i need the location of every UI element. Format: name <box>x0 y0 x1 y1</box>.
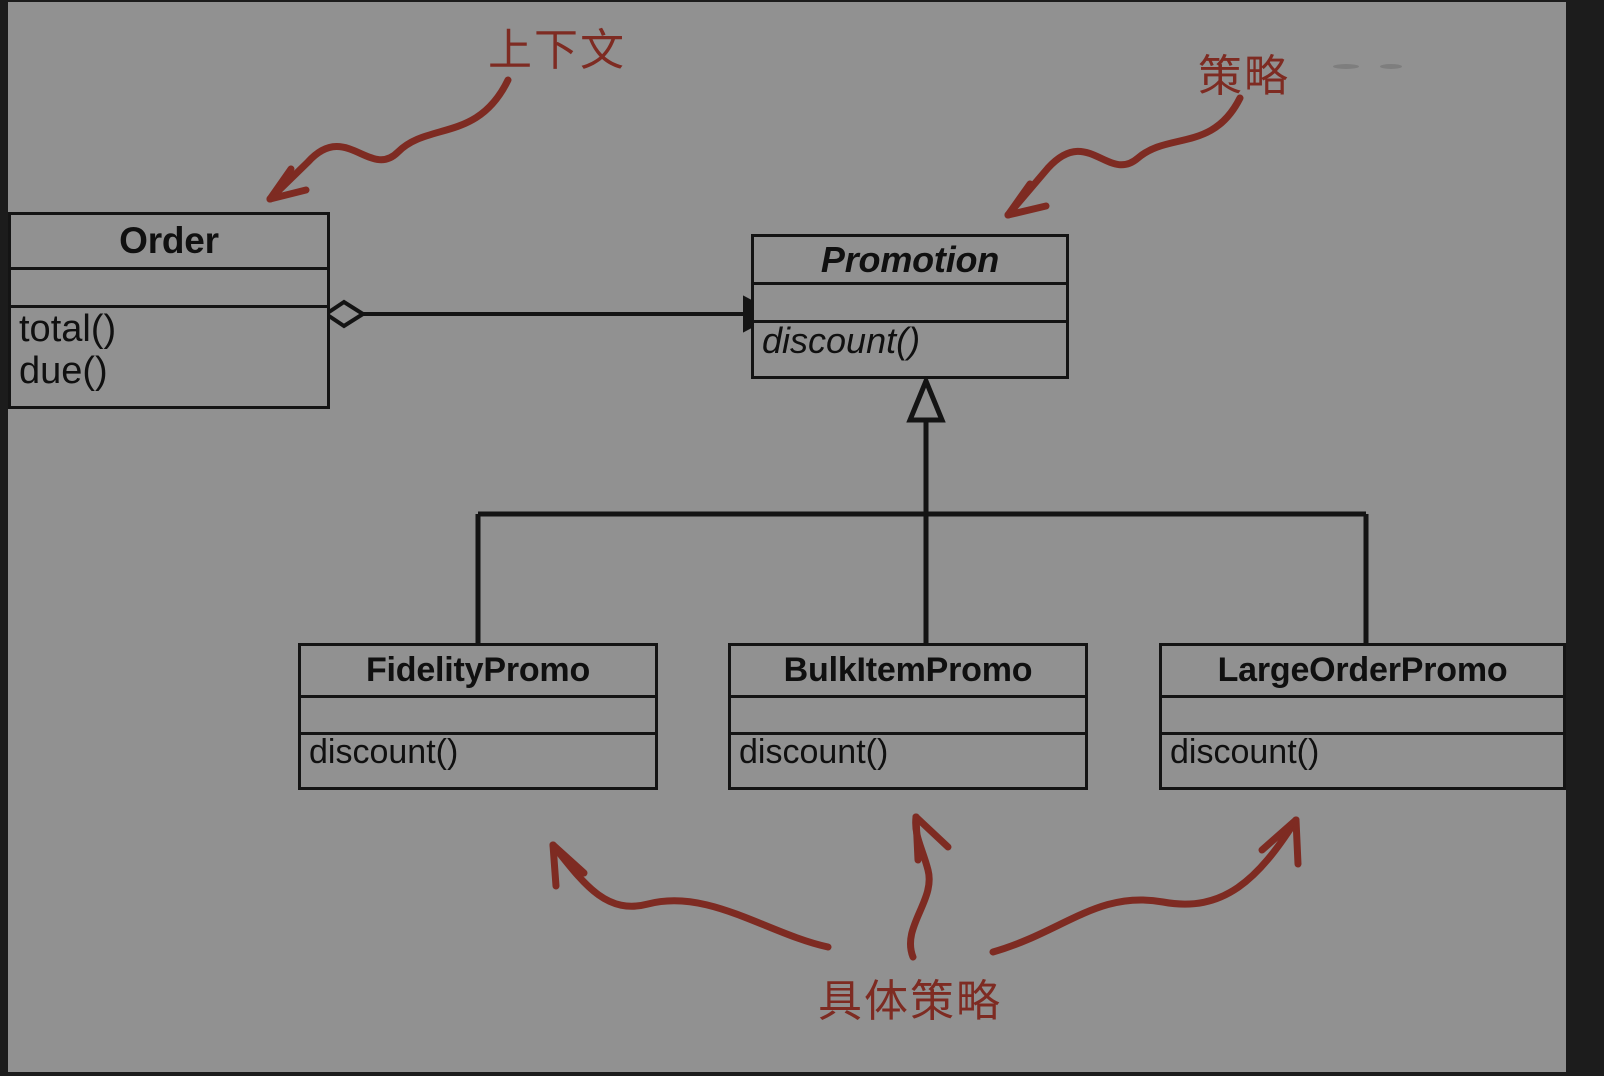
class-name-fidelitypromo: FidelityPromo <box>301 646 655 698</box>
annotation-arrow-concrete-left <box>553 845 828 947</box>
aggregation-diamond <box>326 302 363 326</box>
operation-discount: discount() <box>309 735 655 769</box>
uml-class-fidelitypromo[interactable]: FidelityPromo discount() <box>298 643 658 790</box>
class-operations-bulkitempromo: discount() <box>731 735 1085 787</box>
connector-order-promotion <box>326 297 776 331</box>
class-name-bulkitempromo: BulkItemPromo <box>731 646 1085 698</box>
class-operations-fidelitypromo: discount() <box>301 735 655 787</box>
operation-due: due() <box>19 352 327 390</box>
annotation-arrow-strategy <box>1008 98 1240 215</box>
inheritance-triangle <box>910 381 942 420</box>
annotation-arrow-context <box>270 80 508 199</box>
uml-class-largeorderpromo[interactable]: LargeOrderPromo discount() <box>1159 643 1566 790</box>
class-attributes-largeorderpromo <box>1162 698 1563 735</box>
class-attributes-bulkitempromo <box>731 698 1085 735</box>
class-attributes-promotion <box>754 285 1066 323</box>
class-name-promotion: Promotion <box>754 237 1066 285</box>
class-name-order: Order <box>11 215 327 270</box>
annotation-label-context: 上下文 <box>488 14 626 78</box>
annotation-arrow-concrete-middle <box>910 817 948 957</box>
annotation-label-concrete-strategies: 具体策略 <box>818 965 1002 1029</box>
annotation-label-strategy: 策略 <box>1198 40 1290 104</box>
uml-class-promotion[interactable]: Promotion discount() <box>751 234 1069 379</box>
uml-class-order[interactable]: Order total() due() <box>8 212 330 409</box>
class-operations-promotion: discount() <box>754 323 1066 376</box>
class-operations-largeorderpromo: discount() <box>1162 735 1563 787</box>
class-attributes-order <box>11 270 327 308</box>
uml-class-bulkitempromo[interactable]: BulkItemPromo discount() <box>728 643 1088 790</box>
whiteboard-surface: Order total() due() Promotion discount()… <box>8 2 1566 1072</box>
operation-total: total() <box>19 310 327 348</box>
operation-discount: discount() <box>739 735 1085 769</box>
class-name-largeorderpromo: LargeOrderPromo <box>1162 646 1563 698</box>
connector-generalization-tree <box>478 381 1366 645</box>
annotation-arrow-concrete-right <box>993 820 1298 952</box>
diagram-canvas: Order total() due() Promotion discount()… <box>0 0 1604 1076</box>
operation-discount-abstract: discount() <box>762 323 1066 359</box>
operation-discount: discount() <box>1170 735 1563 769</box>
connector-layer <box>8 2 1566 1072</box>
class-attributes-fidelitypromo <box>301 698 655 735</box>
class-operations-order: total() due() <box>11 308 327 406</box>
